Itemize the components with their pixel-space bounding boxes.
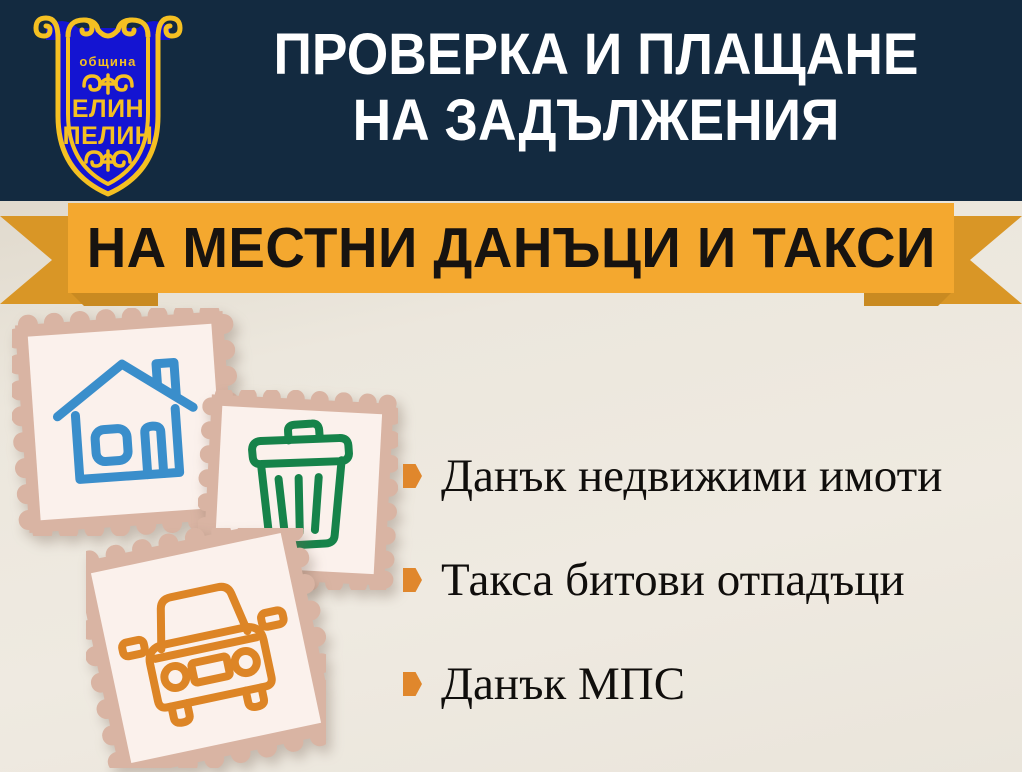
arrow-bullet-icon xyxy=(403,672,422,696)
list-item[interactable]: Данък недвижими имоти xyxy=(403,424,1015,528)
page-title: ПРОВЕРКА И ПЛАЩАНЕ НА ЗАДЪЛЖЕНИЯ xyxy=(219,22,973,154)
arrow-bullet-icon xyxy=(403,568,422,592)
arrow-bullet-icon xyxy=(403,464,422,488)
stamp-vehicle xyxy=(86,528,326,768)
list-item-label: Такса битови отпадъци xyxy=(441,554,905,606)
list-item-label: Данък МПС xyxy=(441,658,685,710)
poster-canvas: ПРОВЕРКА И ПЛАЩАНЕ НА ЗАДЪЛЖЕНИЯ о xyxy=(0,0,1022,772)
ribbon-main-panel: НА МЕСТНИ ДАНЪЦИ И ТАКСИ xyxy=(68,203,954,293)
coat-of-arms-logo: община ЕЛИН ПЕЛИН xyxy=(32,4,184,200)
svg-text:ПЕЛИН: ПЕЛИН xyxy=(63,122,154,150)
service-list: Данък недвижими имоти Такса битови отпад… xyxy=(403,424,1015,736)
list-item[interactable]: Данък МПС xyxy=(403,632,1015,736)
svg-text:ЕЛИН: ЕЛИН xyxy=(72,95,144,123)
list-item-label: Данък недвижими имоти xyxy=(441,450,942,502)
ribbon-subtitle: НА МЕСТНИ ДАНЪЦИ И ТАКСИ xyxy=(86,220,935,277)
svg-text:община: община xyxy=(79,54,136,69)
list-item[interactable]: Такса битови отпадъци xyxy=(403,528,1015,632)
ribbon-banner: НА МЕСТНИ ДАНЪЦИ И ТАКСИ xyxy=(0,203,1022,305)
